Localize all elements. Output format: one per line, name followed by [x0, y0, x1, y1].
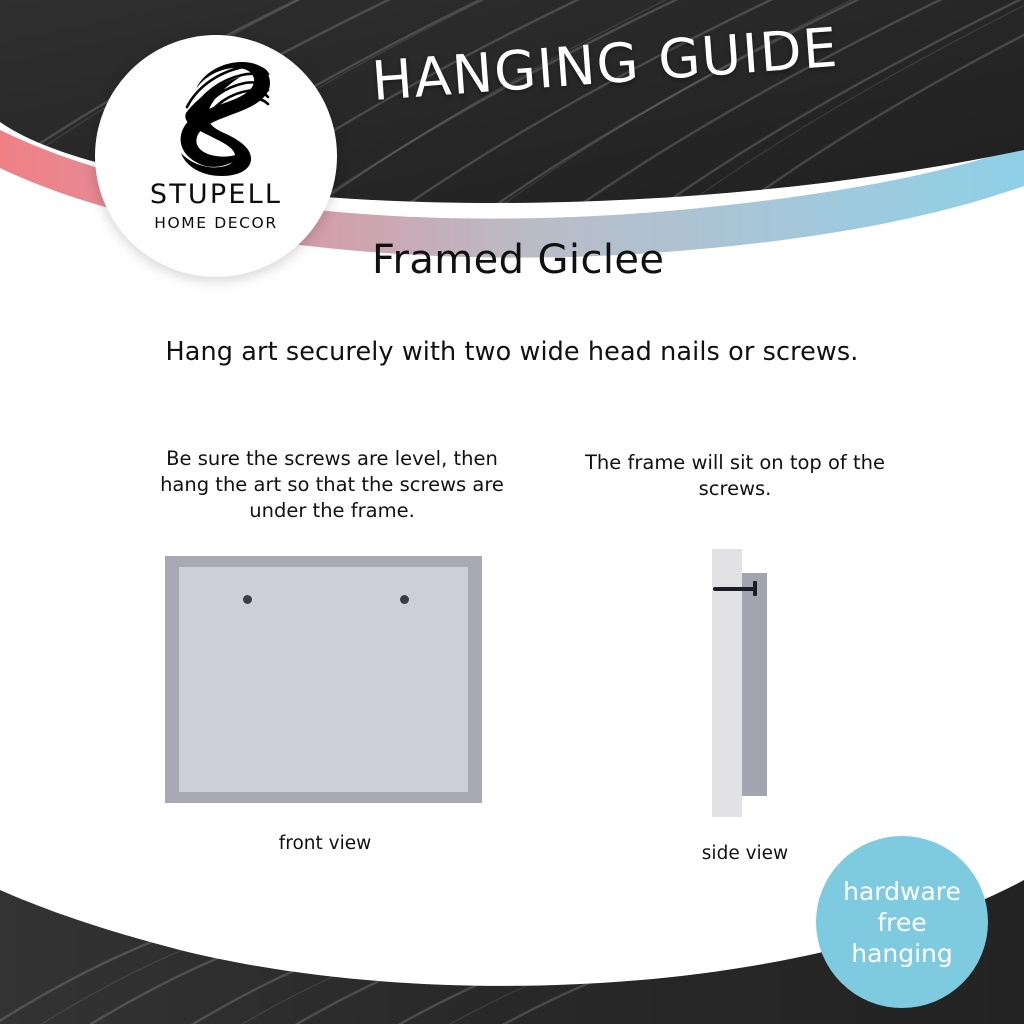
side-view-frame — [742, 573, 767, 796]
side-view-diagram — [700, 545, 800, 825]
badge-line-2: free — [877, 907, 926, 938]
brand-name: STUPELL — [150, 181, 282, 208]
front-view-artwork-mat — [179, 567, 468, 792]
screw-dot-left — [243, 595, 252, 604]
brand-tagline: HOME DECOR — [154, 216, 277, 232]
nail-shaft-icon — [713, 587, 757, 591]
badge-line-3: hanging — [851, 938, 953, 969]
product-type-title: Framed Giclee — [372, 237, 664, 283]
front-view-diagram — [165, 556, 482, 803]
side-view-label: side view — [620, 843, 870, 864]
stupell-swoosh-s-icon — [156, 61, 276, 177]
screw-dot-right — [400, 595, 409, 604]
front-view-caption: Be sure the screws are level, then hang … — [142, 446, 522, 524]
front-view-label: front view — [175, 833, 475, 854]
page-title: HANGING GUIDE — [370, 12, 893, 113]
hanging-guide-page: STUPELL HOME DECOR HANGING GUIDE Framed … — [0, 0, 1024, 1024]
brand-logo-badge: STUPELL HOME DECOR — [95, 35, 337, 277]
hardware-free-hanging-badge: hardware free hanging — [816, 836, 988, 1008]
side-view-caption: The frame will sit on top of the screws. — [580, 450, 890, 502]
main-instruction-text: Hang art securely with two wide head nai… — [0, 337, 1024, 367]
badge-line-1: hardware — [843, 876, 961, 907]
nail-head-icon — [753, 581, 757, 596]
